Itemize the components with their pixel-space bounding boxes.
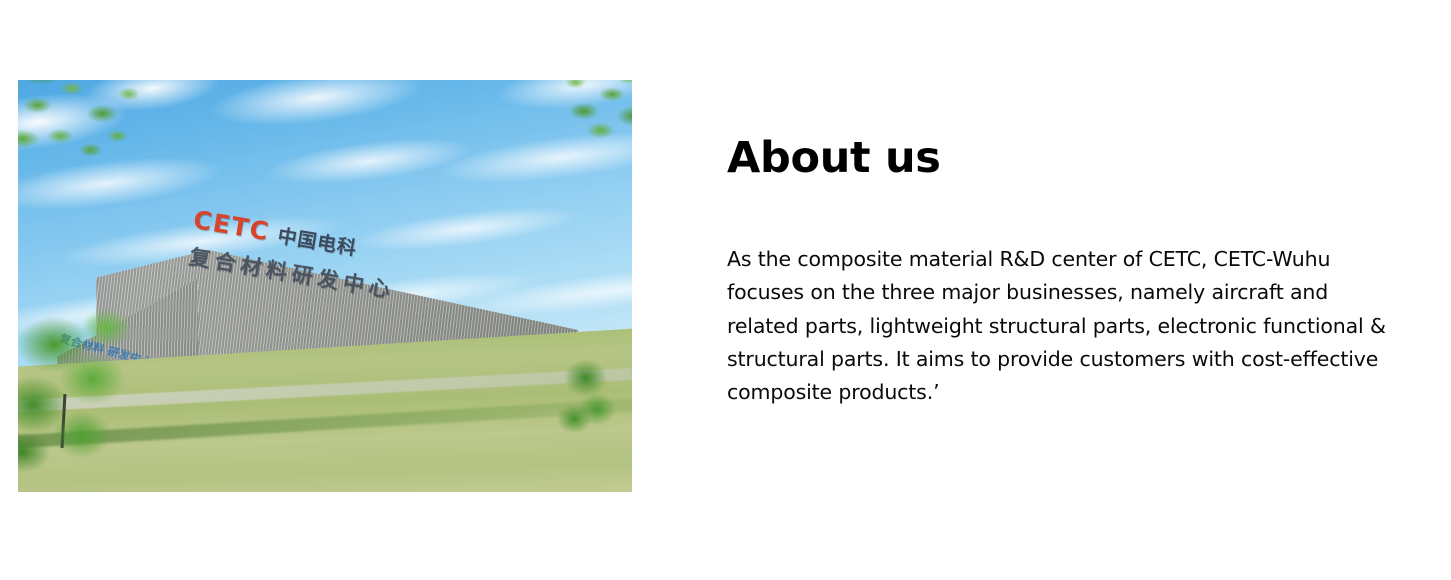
tree-foliage-top-right: [514, 80, 632, 176]
about-us-paragraph: As the composite material R&D center of …: [727, 243, 1395, 409]
tree-foliage-left: [18, 280, 159, 492]
page-title: About us: [727, 136, 1397, 181]
about-us-photo: 复合材料 研发中心 CETC 中国电科 复合材料研发中心: [18, 80, 632, 492]
text-column: About us As the composite material R&D c…: [727, 136, 1397, 409]
tree-foliage-top-left: [18, 80, 182, 192]
photo-content: 复合材料 研发中心 CETC 中国电科 复合材料研发中心: [18, 80, 632, 492]
slide-canvas: 复合材料 研发中心 CETC 中国电科 复合材料研发中心: [0, 0, 1451, 580]
tree-foliage-right: [544, 342, 624, 462]
